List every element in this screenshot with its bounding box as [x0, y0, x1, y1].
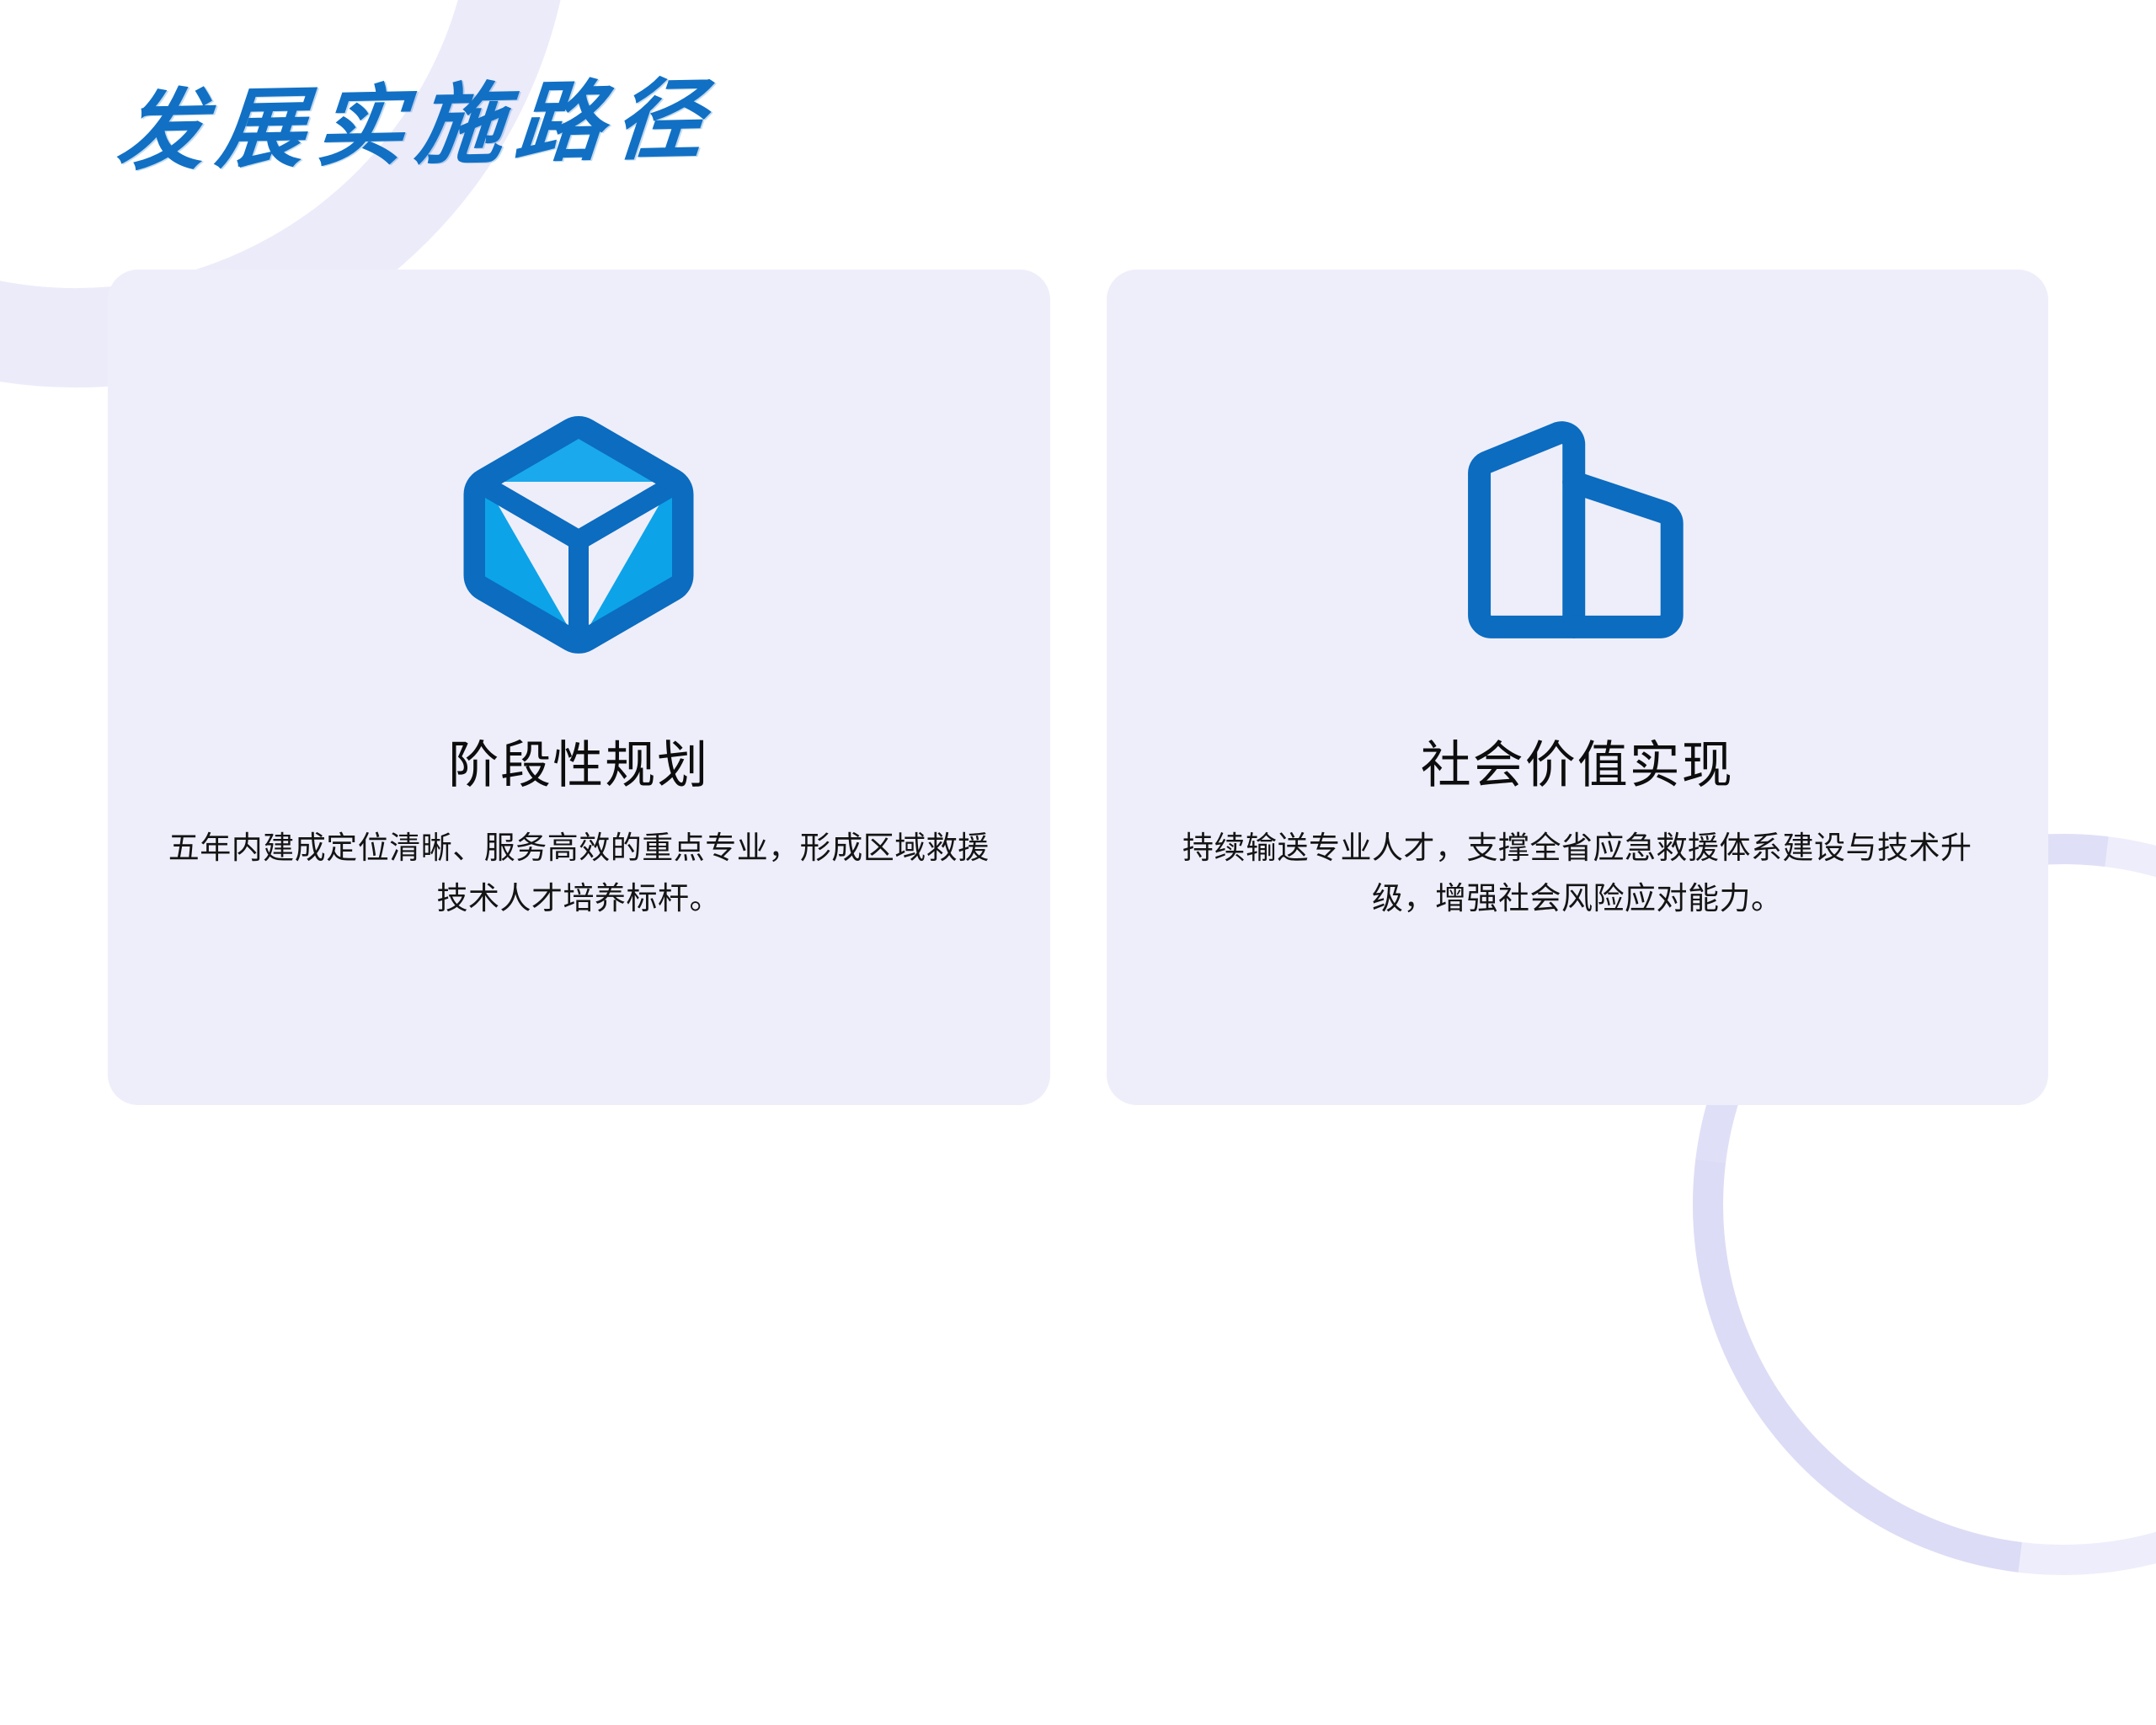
card-phased-planning[interactable]: 阶段性规划 五年内建成定位清晰、服务高效的重点专业，形成区域救援技术人才培养标杆…: [108, 270, 1050, 1105]
card-description: 五年内建成定位清晰、服务高效的重点专业，形成区域救援技术人才培养标杆。: [166, 823, 991, 924]
buildings-outline-icon: [1451, 409, 1704, 661]
card-description: 持续输送专业人才，支撑全省应急救援体系建设与技术升级，增强社会风险应对能力。: [1165, 823, 1990, 924]
card-title: 社会价值实现: [1421, 735, 1734, 796]
page-title: 发展实施路径: [114, 75, 719, 179]
cube-3d-icon: [452, 409, 705, 661]
card-grid: 阶段性规划 五年内建成定位清晰、服务高效的重点专业，形成区域救援技术人才培养标杆…: [108, 270, 2048, 1105]
card-social-value[interactable]: 社会价值实现 持续输送专业人才，支撑全省应急救援体系建设与技术升级，增强社会风险…: [1107, 270, 2049, 1105]
card-title: 阶段性规划: [448, 735, 709, 796]
